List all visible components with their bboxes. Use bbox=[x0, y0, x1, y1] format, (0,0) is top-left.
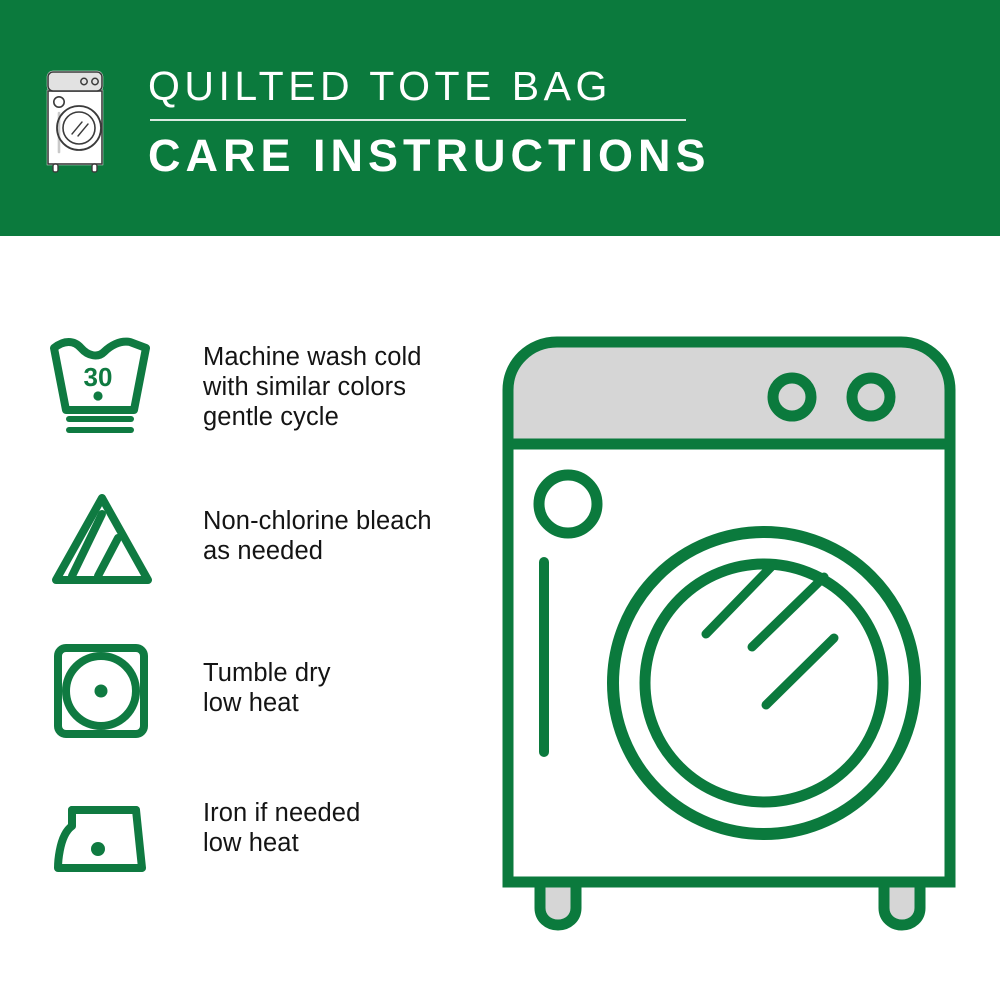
header-content: QUILTED TOTE BAG CARE INSTRUCTIONS bbox=[44, 62, 711, 181]
care-symbol-bleach bbox=[48, 484, 158, 590]
care-text-iron-line-2: low heat bbox=[203, 828, 360, 858]
content-area: 30 Machine wash cold with similar colors… bbox=[0, 236, 1000, 1000]
iron-low-heat-icon bbox=[48, 794, 156, 880]
washing-machine-icon bbox=[44, 68, 110, 176]
care-row-bleach: Non-chlorine bleach as needed bbox=[48, 484, 468, 636]
wash-tub-30-gentle-icon: 30 bbox=[48, 334, 156, 438]
care-text-bleach: Non-chlorine bleach as needed bbox=[203, 484, 432, 566]
foot-left bbox=[540, 882, 576, 925]
care-text-wash: Machine wash cold with similar colors ge… bbox=[203, 334, 422, 432]
care-text-iron-line-1: Iron if needed bbox=[203, 798, 360, 828]
care-symbol-iron bbox=[48, 784, 158, 880]
front-load-washing-machine-illustration bbox=[494, 334, 964, 934]
care-text-wash-line-2: with similar colors bbox=[203, 372, 422, 402]
control-panel bbox=[508, 342, 950, 444]
care-text-iron: Iron if needed low heat bbox=[203, 784, 360, 858]
wash-temperature-label: 30 bbox=[84, 362, 113, 392]
care-instructions-list: 30 Machine wash cold with similar colors… bbox=[48, 334, 468, 904]
care-symbol-wash: 30 bbox=[48, 334, 158, 438]
foot-right bbox=[884, 882, 920, 925]
header-banner: QUILTED TOTE BAG CARE INSTRUCTIONS bbox=[0, 0, 1000, 236]
care-text-tumble-dry: Tumble dry low heat bbox=[203, 636, 331, 718]
page-title-product: QUILTED TOTE BAG bbox=[148, 62, 711, 110]
tumble-dry-low-heat-icon bbox=[48, 642, 156, 742]
low-heat-dot bbox=[91, 842, 105, 856]
care-row-iron: Iron if needed low heat bbox=[48, 784, 468, 904]
care-row-tumble-dry: Tumble dry low heat bbox=[48, 636, 468, 784]
non-chlorine-bleach-triangle-icon bbox=[48, 490, 156, 590]
gentle-dot bbox=[93, 391, 102, 400]
care-symbol-tumble-dry bbox=[48, 636, 158, 742]
care-text-wash-line-1: Machine wash cold bbox=[203, 342, 422, 372]
header-title-group: QUILTED TOTE BAG CARE INSTRUCTIONS bbox=[148, 62, 711, 181]
care-text-wash-line-3: gentle cycle bbox=[203, 402, 422, 432]
care-text-tumble-dry-line-1: Tumble dry bbox=[203, 658, 331, 688]
title-divider bbox=[150, 119, 686, 121]
page-title-main: CARE INSTRUCTIONS bbox=[148, 131, 711, 181]
care-text-bleach-line-2: as needed bbox=[203, 536, 432, 566]
care-row-wash: 30 Machine wash cold with similar colors… bbox=[48, 334, 468, 484]
care-text-tumble-dry-line-2: low heat bbox=[203, 688, 331, 718]
care-text-bleach-line-1: Non-chlorine bleach bbox=[203, 506, 432, 536]
low-heat-dot bbox=[95, 685, 108, 698]
